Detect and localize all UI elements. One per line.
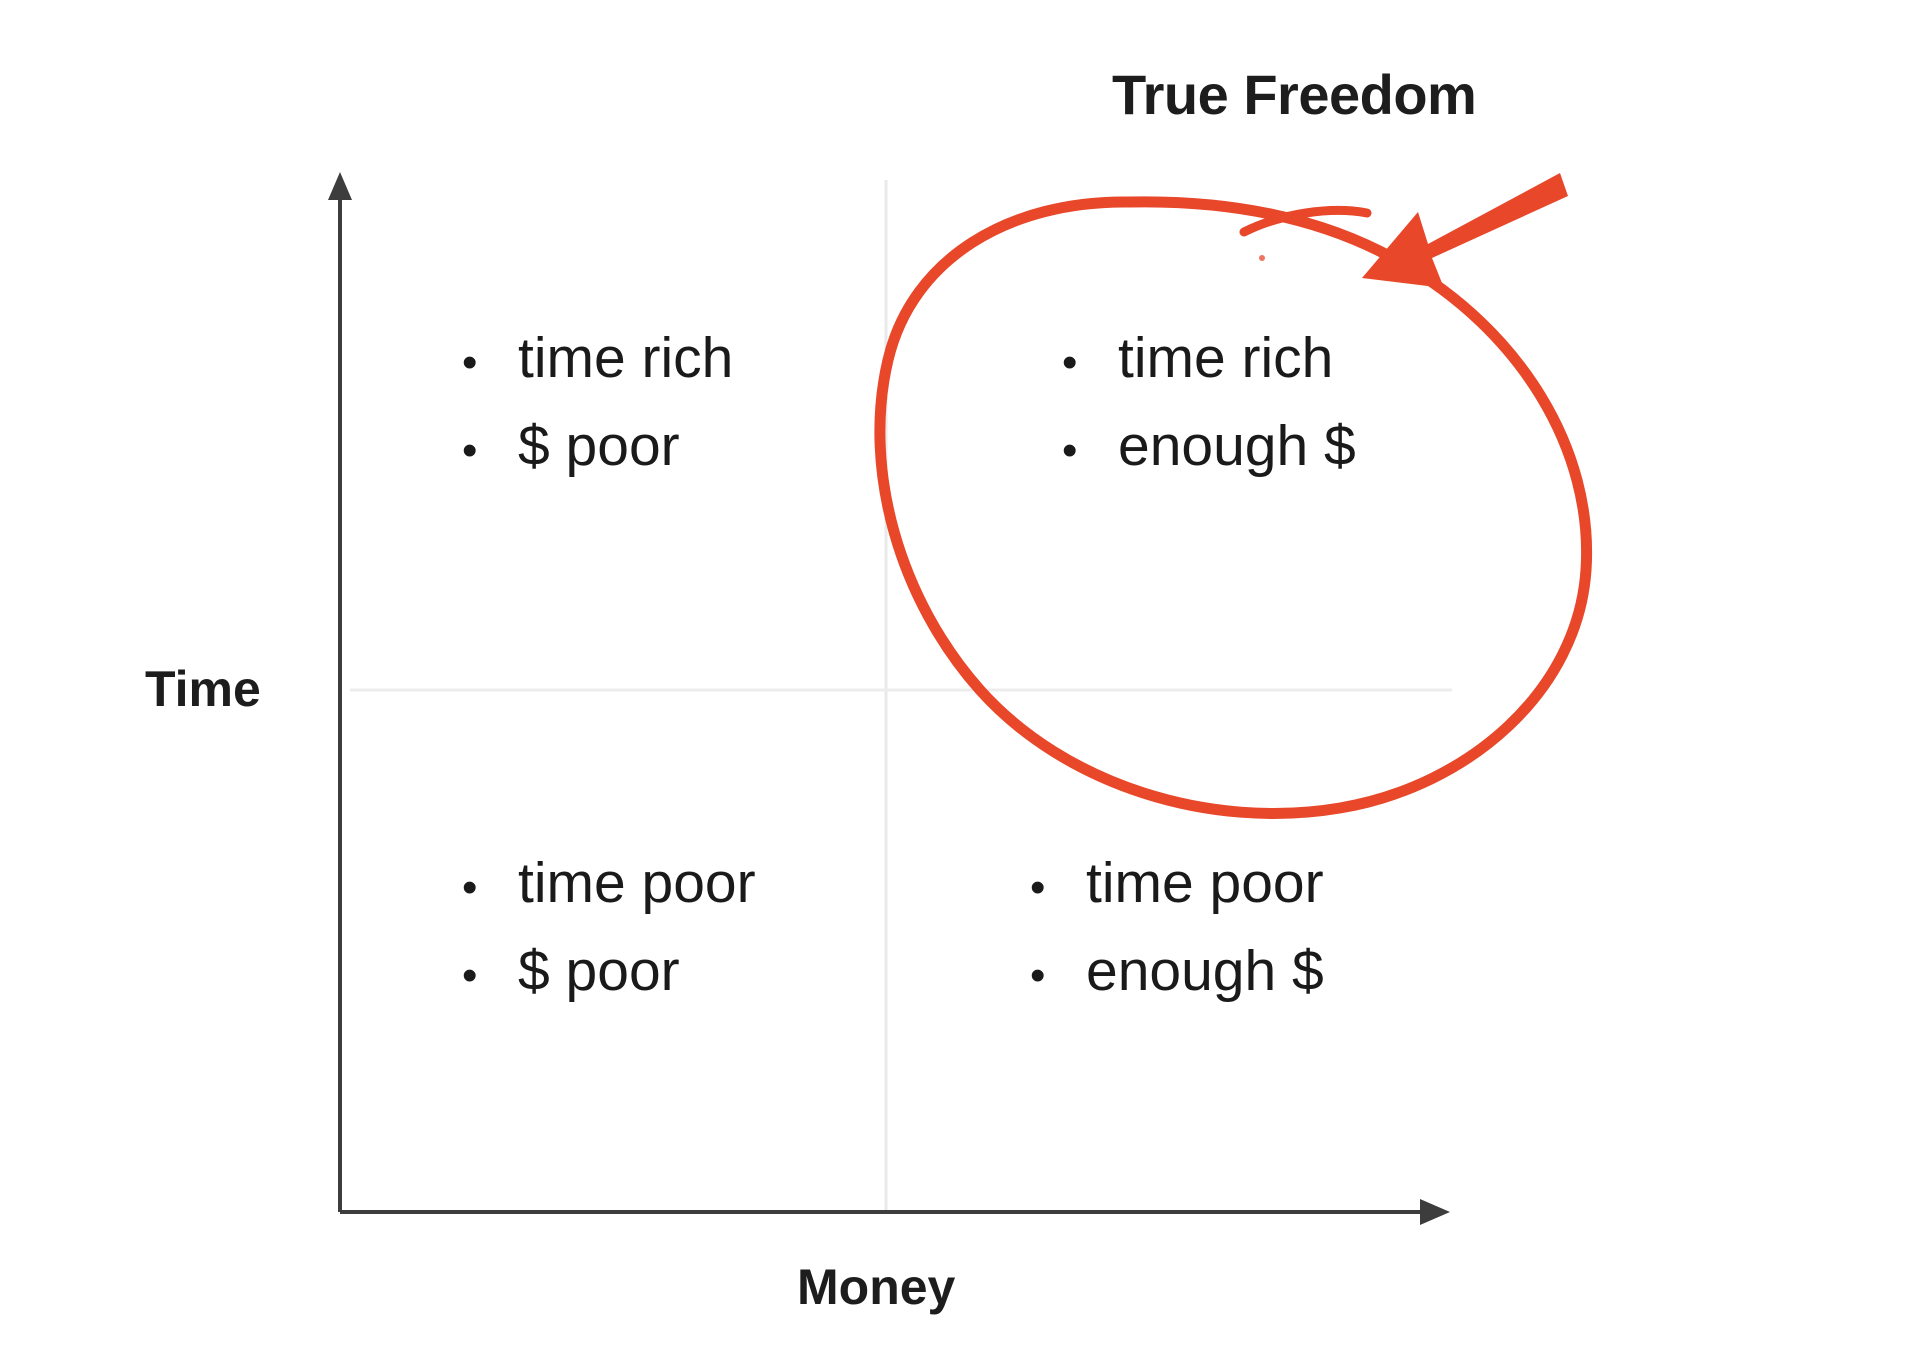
pointer-arrow-icon bbox=[1362, 173, 1568, 288]
bullet-icon: • bbox=[1030, 954, 1086, 998]
bullet-icon: • bbox=[1062, 341, 1118, 385]
highlight-circle-icon bbox=[880, 202, 1587, 814]
quadrant-bottom-left: • time poor • $ poor bbox=[462, 855, 756, 1031]
list-item: • time poor bbox=[1030, 855, 1324, 943]
list-item: • time poor bbox=[462, 855, 756, 943]
bullet-icon: • bbox=[462, 954, 518, 998]
y-axis bbox=[328, 172, 352, 1212]
quadrant-chart-canvas: True Freedom Time Money • time rich • $ … bbox=[0, 0, 1920, 1372]
chart-vector-layer bbox=[0, 0, 1920, 1372]
quadrant-bottom-left-line2: $ poor bbox=[518, 943, 680, 1000]
bullet-icon: • bbox=[1062, 429, 1118, 473]
list-item: • $ poor bbox=[462, 943, 756, 1031]
list-item: • enough $ bbox=[1030, 943, 1324, 1031]
x-axis-label: Money bbox=[797, 1258, 955, 1316]
quadrant-top-left-line2: $ poor bbox=[518, 418, 680, 475]
y-axis-label: Time bbox=[145, 660, 261, 718]
list-item: • enough $ bbox=[1062, 418, 1356, 506]
bullet-icon: • bbox=[462, 866, 518, 910]
quadrant-bottom-right-line2: enough $ bbox=[1086, 943, 1324, 1000]
bullet-icon: • bbox=[462, 429, 518, 473]
bullet-icon: • bbox=[1030, 866, 1086, 910]
list-item: • time rich bbox=[462, 330, 733, 418]
quadrant-top-right-line2: enough $ bbox=[1118, 418, 1356, 475]
annotation-title: True Freedom bbox=[1112, 62, 1476, 127]
quadrant-top-right-line1: time rich bbox=[1118, 330, 1333, 387]
bullet-icon: • bbox=[462, 341, 518, 385]
quadrant-bottom-left-line1: time poor bbox=[518, 855, 756, 912]
quadrant-top-right: • time rich • enough $ bbox=[1062, 330, 1356, 506]
quadrant-top-left-line1: time rich bbox=[518, 330, 733, 387]
list-item: • time rich bbox=[1062, 330, 1356, 418]
quadrant-top-left: • time rich • $ poor bbox=[462, 330, 733, 506]
quadrant-bottom-right-line1: time poor bbox=[1086, 855, 1324, 912]
list-item: • $ poor bbox=[462, 418, 733, 506]
x-axis bbox=[340, 1199, 1450, 1225]
quadrant-bottom-right: • time poor • enough $ bbox=[1030, 855, 1324, 1031]
